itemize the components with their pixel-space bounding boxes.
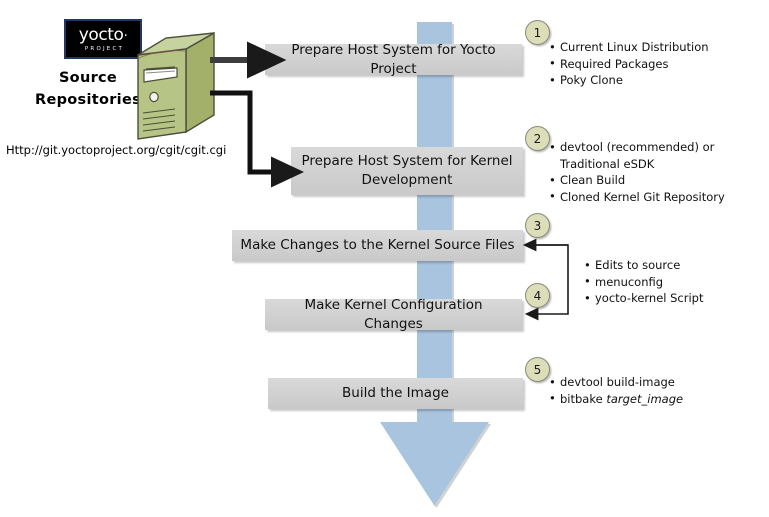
list-item: Edits to source xyxy=(583,257,763,274)
list-item: Current Linux Distribution xyxy=(548,39,760,56)
process-box-make-kernel-config-changes[interactable]: Make Kernel Configuration Changes xyxy=(265,299,522,330)
step-number-1: 1 xyxy=(525,20,550,45)
step1-bullet-list: Current Linux Distribution Required Pack… xyxy=(548,39,760,89)
step-number-label: 5 xyxy=(534,363,542,377)
list-item-emphasis: target_image xyxy=(606,392,683,406)
step-number-4: 4 xyxy=(525,283,550,308)
step-number-3: 3 xyxy=(525,213,550,238)
loop-bullet-list: Edits to source menuconfig yocto-kernel … xyxy=(583,257,763,307)
process-box-label: Make Kernel Configuration Changes xyxy=(273,296,514,334)
source-repositories-url: Http://git.yoctoproject.org/cgit/cgit.cg… xyxy=(6,143,226,157)
list-item: Required Packages xyxy=(548,56,760,73)
arrow-server-to-box2 xyxy=(210,93,277,172)
list-item: devtool (recommended) or Traditional eSD… xyxy=(548,139,760,172)
process-box-label: Make Changes to the Kernel Source Files xyxy=(240,236,514,255)
step-number-label: 3 xyxy=(534,219,542,233)
list-item: yocto-kernel Script xyxy=(583,290,763,307)
list-item: Clean Build xyxy=(548,172,760,189)
process-box-prepare-host-yocto[interactable]: Prepare Host System for Yocto Project xyxy=(265,44,522,75)
list-item: devtool build-image xyxy=(548,374,760,391)
main-flow-arrow xyxy=(378,22,491,510)
list-item: Cloned Kernel Git Repository xyxy=(548,189,760,206)
process-box-label: Build the Image xyxy=(342,384,449,403)
logo-subtitle: PROJECT xyxy=(66,45,140,53)
step-number-label: 4 xyxy=(534,289,542,303)
list-item: menuconfig xyxy=(583,274,763,291)
step-number-2: 2 xyxy=(525,126,550,151)
step-number-5: 5 xyxy=(525,357,550,382)
step2-bullet-list: devtool (recommended) or Traditional eSD… xyxy=(548,139,760,205)
process-box-make-changes-kernel-source[interactable]: Make Changes to the Kernel Source Files xyxy=(232,230,523,261)
process-box-label: Prepare Host System for Kernel Developme… xyxy=(299,152,515,190)
logo-wordmark: yocto· xyxy=(66,26,140,46)
logo-word-text: yocto xyxy=(79,25,124,45)
server-icon xyxy=(130,27,216,142)
workflow-diagram: yocto· PROJECT Source Repositories Http:… xyxy=(0,0,769,517)
list-item: bitbake target_image xyxy=(548,391,760,408)
logo-dot: · xyxy=(124,29,128,44)
list-item-text: bitbake xyxy=(560,392,606,406)
process-box-prepare-host-kernel[interactable]: Prepare Host System for Kernel Developme… xyxy=(291,147,523,195)
process-box-build-the-image[interactable]: Build the Image xyxy=(268,378,523,409)
step-number-label: 2 xyxy=(534,132,542,146)
step5-bullet-list: devtool build-image bitbake target_image xyxy=(548,374,760,407)
process-box-label: Prepare Host System for Yocto Project xyxy=(273,41,514,79)
step-number-label: 1 xyxy=(534,26,542,40)
list-item: Poky Clone xyxy=(548,72,760,89)
